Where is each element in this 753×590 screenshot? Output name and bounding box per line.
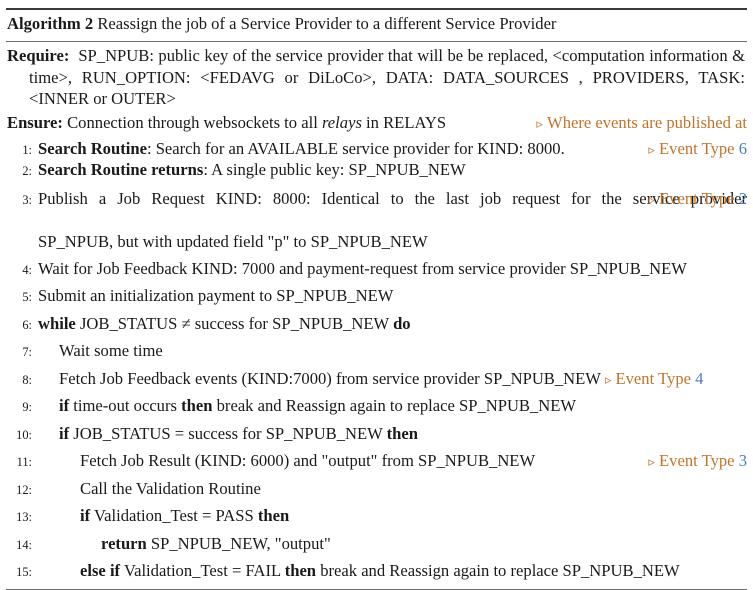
line-text: Wait for Job Feedback KIND: 7000 and pay…: [38, 259, 687, 278]
code-line-2: 2: Search Routine returns: A single publ…: [6, 160, 747, 181]
line-text: while JOB_STATUS ≠ success for SP_NPUB_N…: [38, 314, 411, 333]
line-text: else if Validation_Test = FAIL then brea…: [38, 561, 680, 580]
line-number: 7:: [6, 342, 38, 362]
line-text-part2: SP_NPUB, but with updated field "p" to S…: [38, 231, 747, 253]
event-type-ref[interactable]: 6: [739, 139, 747, 158]
code-line-1: 1: Search Routine: Search for an AVAILAB…: [6, 139, 747, 160]
line-number: 11:: [6, 452, 38, 472]
line-number: 4:: [6, 260, 38, 280]
line-number: 6:: [6, 315, 38, 335]
line-text: Wait some time: [38, 341, 163, 360]
line-text: return SP_NPUB_NEW, "output": [38, 534, 331, 553]
code-line-9: 9: if time-out occurs then break and Rea…: [6, 396, 747, 417]
event-type-ref[interactable]: 4: [695, 369, 703, 388]
ensure-statement: Ensure: Connection through websockets to…: [7, 112, 446, 134]
line-text: Submit an initialization payment to SP_N…: [38, 286, 393, 305]
require-block: Require: SP_NPUB: public key of the serv…: [28, 42, 747, 110]
ensure-text-italic: relays: [322, 113, 362, 132]
require-text: SP_NPUB: public key of the service provi…: [29, 46, 745, 108]
algorithm-block: Algorithm 2 Reassign the job of a Servic…: [0, 8, 753, 498]
code-line-4: 4: Wait for Job Feedback KIND: 7000 and …: [6, 259, 747, 280]
line-number: 1:: [6, 140, 38, 160]
code-line-7: 7: Wait some time: [6, 341, 747, 362]
line-number: 5:: [6, 287, 38, 307]
code-line-6: 6: while JOB_STATUS ≠ success for SP_NPU…: [6, 314, 747, 335]
ensure-text-a: Connection through websockets to all: [67, 113, 322, 132]
line-text: Search Routine returns: A single public …: [38, 160, 466, 179]
line-number: 8:: [6, 370, 38, 390]
algorithm-title: Algorithm 2 Reassign the job of a Servic…: [6, 10, 747, 38]
line-comment: ▹ Event Type 3: [648, 451, 747, 472]
require-label: Require:: [7, 46, 69, 65]
line-comment: ▹ Event Type 4: [605, 369, 704, 388]
comment-triangle-icon: ▹: [648, 192, 655, 207]
line-text: if time-out occurs then break and Reassi…: [38, 396, 576, 415]
ensure-text-b: in RELAYS: [362, 113, 446, 132]
line-text: if JOB_STATUS = success for SP_NPUB_NEW …: [38, 424, 418, 443]
ensure-comment: ▹ Where events are published at: [536, 112, 747, 135]
ensure-block: Ensure: Connection through websockets to…: [6, 110, 747, 135]
line-text-part1: Publish a Job Request KIND: 8000: Identi…: [38, 188, 747, 231]
line-number: 2:: [6, 161, 38, 181]
line-comment: ▹ Event Type 6: [648, 139, 747, 160]
event-type-ref[interactable]: 2: [739, 189, 747, 208]
line-number: 9:: [6, 397, 38, 417]
line-text: Fetch Job Result (KIND: 6000) and "outpu…: [38, 451, 535, 470]
line-text: Search Routine: Search for an AVAILABLE …: [38, 139, 565, 158]
code-line-12: 12: Call the Validation Routine: [6, 479, 747, 500]
algorithm-label: Algorithm 2: [7, 14, 93, 33]
code-line-15: 15: else if Validation_Test = FAIL then …: [6, 561, 747, 582]
line-number: 15:: [6, 562, 38, 582]
algorithm-title-text: Reassign the job of a Service Provider t…: [97, 14, 556, 33]
code-line-14: 14: return SP_NPUB_NEW, "output": [6, 534, 747, 555]
code-line-5: 5: Submit an initialization payment to S…: [6, 286, 747, 307]
line-text: Call the Validation Routine: [38, 479, 261, 498]
ensure-comment-text: Where events are published at: [547, 113, 747, 132]
line-number: 10:: [6, 425, 38, 445]
comment-triangle-icon: ▹: [605, 372, 612, 387]
ensure-label: Ensure:: [7, 113, 63, 132]
comment-triangle-icon: ▹: [648, 142, 655, 157]
comment-triangle-icon: ▹: [648, 454, 655, 469]
code-line-8: 8: Fetch Job Feedback events (KIND:7000)…: [6, 369, 747, 390]
comment-triangle-icon: ▹: [536, 116, 543, 131]
line-text: Publish a Job Request KIND: 8000: Identi…: [38, 188, 747, 253]
code-line-3: 3: Publish a Job Request KIND: 8000: Ide…: [6, 188, 747, 253]
line-comment: ▹ Event Type 2: [648, 188, 747, 211]
line-text: Fetch Job Feedback events (KIND:7000) fr…: [38, 369, 703, 388]
event-type-ref[interactable]: 3: [739, 451, 747, 470]
code-line-10: 10: if JOB_STATUS = success for SP_NPUB_…: [6, 424, 747, 445]
line-number: 13:: [6, 507, 38, 527]
line-number: 14:: [6, 535, 38, 555]
line-number: 3:: [6, 190, 38, 210]
code-line-11: 11: Fetch Job Result (KIND: 6000) and "o…: [6, 451, 747, 472]
line-text: if Validation_Test = PASS then: [38, 506, 289, 525]
code-line-13: 13: if Validation_Test = PASS then: [6, 506, 747, 527]
pseudocode-lines: 1: Search Routine: Search for an AVAILAB…: [6, 134, 747, 582]
